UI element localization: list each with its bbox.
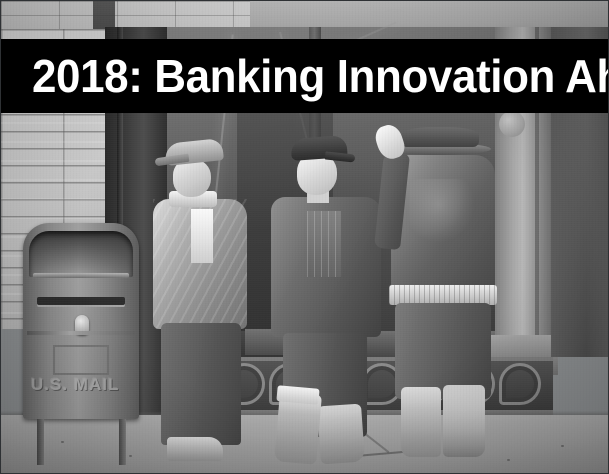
mailbox-lid	[29, 231, 133, 277]
rubber-boot	[443, 385, 485, 457]
person-man-right	[379, 119, 507, 463]
mailbox-plate	[53, 345, 109, 375]
knit-waistband	[389, 285, 497, 305]
bib-overalls	[307, 211, 341, 277]
mailbox-lid-lip	[33, 273, 129, 278]
person-man-left	[147, 141, 255, 461]
sidewalk-debris	[129, 455, 132, 457]
sidewalk-debris	[507, 459, 510, 461]
trousers	[161, 323, 241, 445]
headline-band: 2018: Banking Innovation Ahead	[1, 39, 608, 113]
shirt	[191, 209, 213, 263]
headline-photo-figure: U.S. MAIL	[0, 0, 609, 474]
headline-text: 2018: Banking Innovation Ahead	[32, 39, 609, 113]
rubber-boot	[317, 404, 365, 465]
mailbox-letter-slot	[37, 297, 125, 305]
shoe	[167, 437, 223, 461]
person-man-center	[269, 137, 383, 467]
mailbox-legs	[33, 419, 129, 465]
us-mail-collection-box: U.S. MAIL	[23, 223, 139, 419]
mailbox-embossed-text: U.S. MAIL	[31, 375, 131, 395]
mailbox-band	[27, 331, 135, 335]
fedora-crown	[401, 127, 479, 147]
face	[173, 159, 211, 197]
sidewalk-debris	[561, 445, 564, 447]
mailbox-leg	[37, 419, 44, 465]
rubber-boot	[401, 387, 441, 457]
mailbox-leg	[119, 419, 126, 465]
